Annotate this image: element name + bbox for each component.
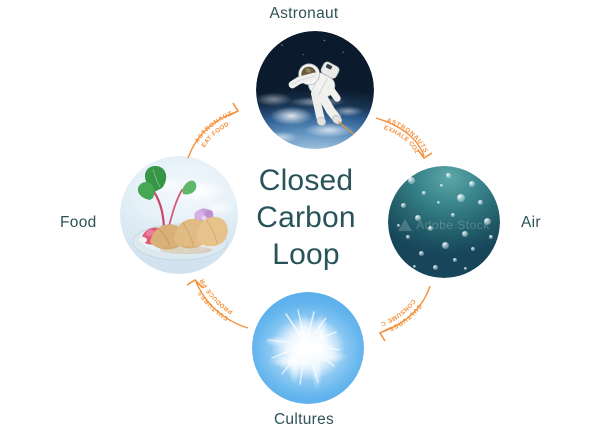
center-title-line-2: Carbon: [232, 199, 380, 236]
node-label-cultures: Cultures: [0, 411, 608, 429]
cultures-spray-streaks: [252, 292, 364, 404]
diagram-center-title: Closed Carbon Loop: [232, 162, 380, 273]
adobe-stock-logo-icon: [398, 219, 412, 231]
edge-label-food-to-astronaut-line2: EAT FOOD: [200, 120, 230, 149]
edge-label-astronaut-to-air-line2: EXHALE CO2: [383, 124, 421, 155]
node-label-food: Food: [60, 214, 97, 232]
node-air[interactable]: Adobe Stock: [388, 166, 500, 278]
center-title-line-1: Closed: [232, 162, 380, 199]
center-title-line-3: Loop: [232, 236, 380, 273]
node-label-astronaut: Astronaut: [0, 5, 608, 23]
astronaut-figure-icon: [256, 31, 374, 149]
node-astronaut[interactable]: [256, 31, 374, 149]
air-watermark: Adobe Stock: [388, 218, 500, 232]
edge-label-cultures-to-food: CULTURES: [196, 289, 230, 322]
edge-label-air-to-cultures: CULTURES: [387, 303, 423, 333]
edge-food-to-astronaut: ASTRONAUTS EAT FOOD: [0, 0, 238, 158]
closed-carbon-loop-diagram: Adobe Stock: [0, 0, 608, 442]
node-label-air: Air: [521, 214, 541, 232]
edge-astronaut-to-air: ASTRONAUTS EXHALE CO2: [376, 117, 432, 158]
food-plate-illustration: [120, 156, 238, 274]
node-cultures[interactable]: [252, 292, 364, 404]
edge-label-astronaut-to-air: ASTRONAUTS: [386, 117, 430, 155]
node-food[interactable]: [120, 156, 238, 274]
